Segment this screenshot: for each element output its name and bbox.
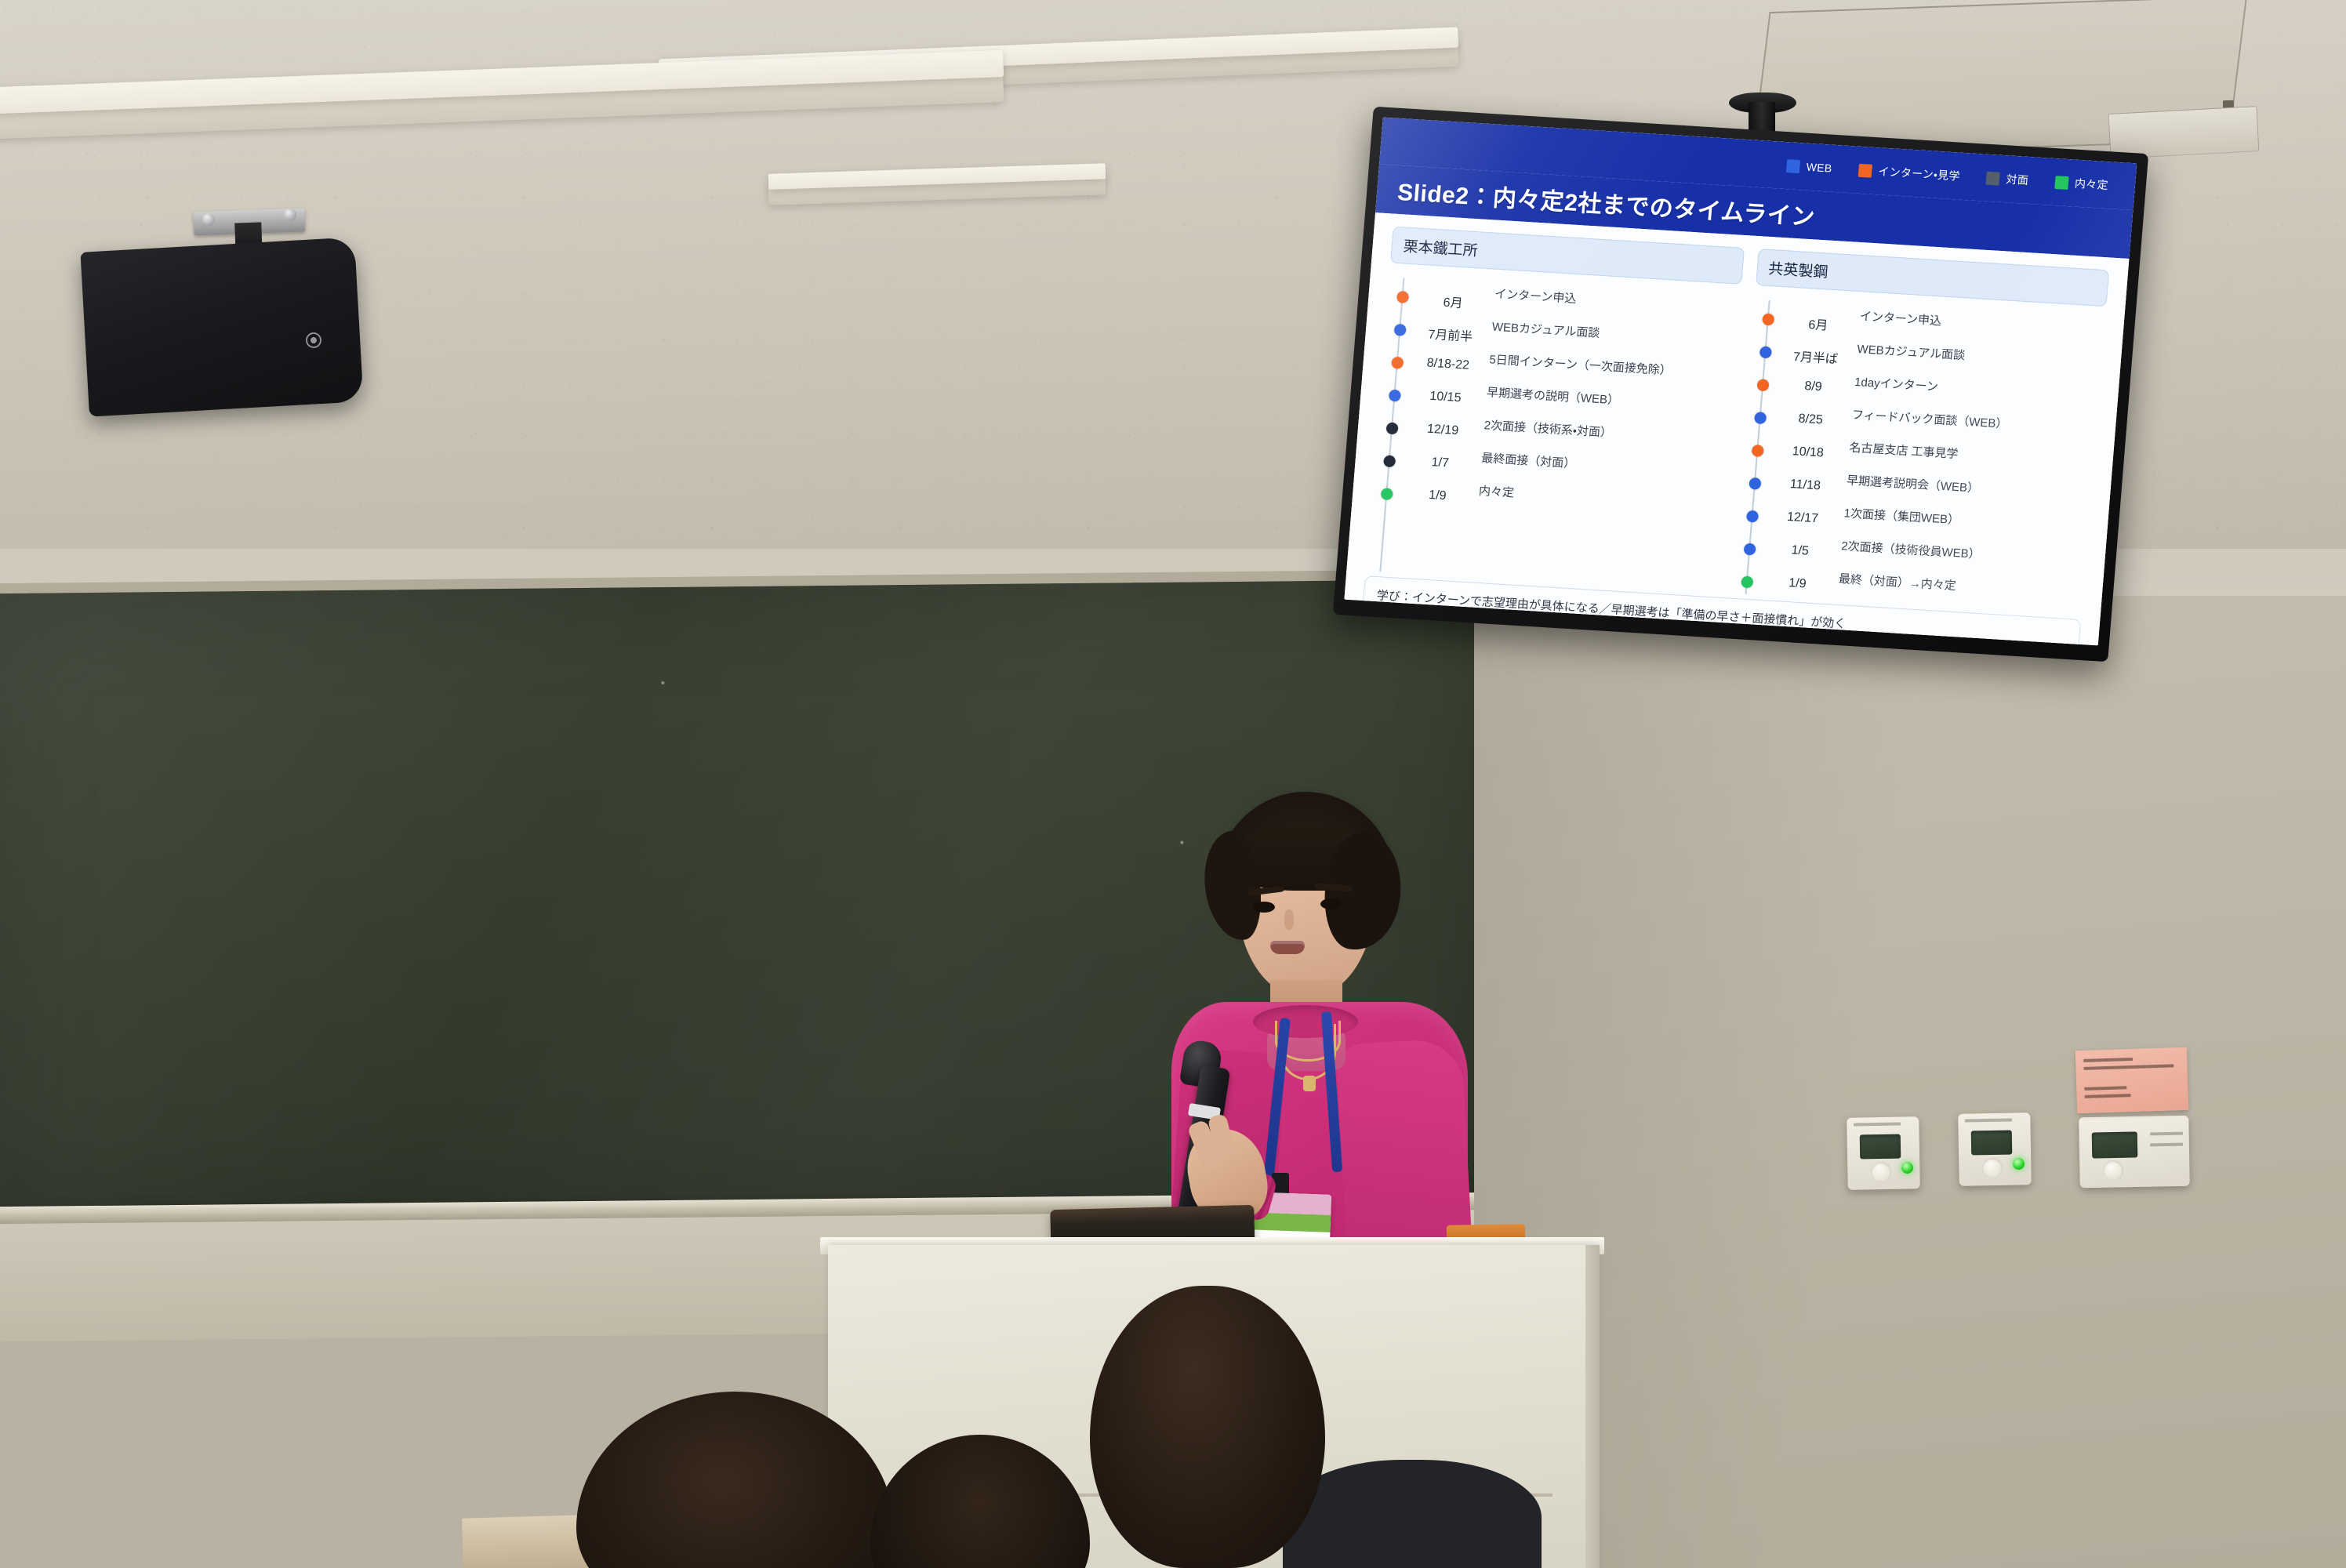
timeline-event-date: 8/25 [1770, 402, 1853, 429]
timeline-event-date: 6月 [1777, 304, 1861, 336]
timeline-dot-offer-icon [1741, 575, 1753, 588]
notice-line [2083, 1058, 2134, 1062]
notice-line [2083, 1064, 2173, 1070]
timeline-event-label: インターン申込 [1494, 287, 1577, 307]
timeline-dot-web-icon [1759, 346, 1771, 358]
presenter-eye [1253, 902, 1275, 913]
audience-shoulders [1283, 1460, 1542, 1568]
ac-controller-2-led-icon [2013, 1158, 2025, 1170]
slide-body: 栗本鐵工所 6月インターン申込7月前半WEBカジュアル面談8/18-225日間イ… [1346, 212, 2130, 620]
notice-line [2084, 1086, 2126, 1091]
presenter-pendant [1303, 1076, 1316, 1091]
timeline-kyoei: 6月インターン申込7月半ばWEBカジュアル面談8/91dayインターン8/25フ… [1730, 290, 2106, 619]
timeline-dot-inperson-icon [1383, 455, 1396, 467]
legend-label: WEB [1806, 161, 1832, 175]
timeline-event-date: 6月 [1411, 281, 1495, 313]
legend-item-offer: 内々定 [2054, 174, 2108, 193]
right-wall-shading [1474, 596, 2346, 1568]
timeline-event-date: 10/18 [1767, 435, 1850, 462]
timeline-dot-web-icon [1749, 477, 1761, 490]
timeline-event-date: 12/17 [1761, 501, 1844, 528]
timeline-dot-inperson-icon [1385, 423, 1398, 435]
timeline-dot-intern-icon [1391, 357, 1404, 369]
timeline-column-kurimoto: 栗本鐵工所 6月インターン申込7月前半WEBカジュアル面談8/18-225日間イ… [1365, 227, 1745, 597]
presenter-eye [1320, 898, 1342, 909]
timeline-dot-intern-icon [1762, 314, 1774, 326]
presenter-nose [1284, 909, 1294, 930]
timeline-dot-web-icon [1754, 412, 1767, 424]
timeline-event-label: インターン申込 [1859, 309, 1942, 329]
laser-pointer-dot-icon [1720, 631, 1727, 637]
timeline-dot-web-icon [1394, 324, 1407, 336]
timeline-event-date: 7月半ば [1774, 337, 1858, 368]
audience-head [1090, 1286, 1325, 1568]
timeline-event-label: 内々定 [1478, 484, 1515, 501]
tv-screen[interactable]: WEB インターン・見学 対面 内々定 [1344, 118, 2137, 646]
timeline-event-date: 1/9 [1396, 479, 1480, 506]
ceiling-speaker [80, 237, 363, 416]
wall-notice-sign [2075, 1047, 2188, 1113]
legend-item-inperson: 対面 [1986, 170, 2029, 188]
legend-label: インターン・見学 [1878, 163, 1961, 183]
timeline-event-date: 10/15 [1404, 380, 1487, 407]
legend-swatch-icon [1858, 163, 1872, 177]
podium-right-edge [1585, 1245, 1600, 1568]
ac-controller-1-led-icon [1901, 1162, 1913, 1174]
legend-swatch-icon [2054, 176, 2068, 190]
chalk-speck [661, 681, 664, 684]
ac-controller-3-label [2150, 1143, 2183, 1147]
presenter [1160, 792, 1474, 1278]
ac-controller-1-dial[interactable] [1871, 1162, 1891, 1182]
timeline-dot-intern-icon [1396, 291, 1409, 303]
timeline-dot-intern-icon [1751, 445, 1763, 457]
timeline-dot-web-icon [1743, 543, 1756, 556]
classroom-scene: WEB インターン・見学 対面 内々定 [0, 0, 2346, 1568]
timeline-event-date: 12/19 [1401, 413, 1484, 440]
presentation-slide: WEB インターン・見学 対面 内々定 [1344, 118, 2137, 646]
timeline-dot-web-icon [1389, 390, 1401, 402]
timeline-column-kyoei: 共英製鋼 6月インターン申込7月半ばWEBカジュアル面談8/91dayインターン… [1730, 249, 2110, 619]
ac-controller-3-display [2092, 1131, 2138, 1158]
timeline-event-date: 1/7 [1399, 446, 1482, 473]
ceiling-vent [2108, 106, 2260, 159]
notice-line [2085, 1094, 2131, 1098]
timeline-event-date: 1/5 [1759, 534, 1842, 561]
timeline-event-date: 8/18-22 [1407, 347, 1490, 374]
legend-swatch-icon [1786, 159, 1800, 173]
ac-controller-2-dial[interactable] [1982, 1158, 2003, 1178]
timeline-event-date: 8/9 [1772, 370, 1855, 397]
timeline-dot-web-icon [1745, 510, 1758, 523]
timeline-event-date: 7月前半 [1409, 314, 1493, 346]
legend-label: 対面 [2006, 171, 2029, 188]
legend-label: 内々定 [2074, 176, 2108, 194]
timeline-dot-intern-icon [1756, 379, 1769, 391]
ac-controller-3-label [2150, 1132, 2183, 1136]
timeline-dot-offer-icon [1381, 488, 1393, 500]
timeline-kurimoto: 6月インターン申込7月前半WEBカジュアル面談8/18-225日間インターン（一… [1365, 267, 1741, 597]
legend-item-intern: インターン・見学 [1858, 162, 1961, 184]
ac-controller-2-display [1971, 1131, 2013, 1156]
legend-item-web: WEB [1786, 159, 1832, 175]
legend-swatch-icon [1986, 171, 2000, 185]
tv-bezel: WEB インターン・見学 対面 内々定 [1333, 107, 2148, 662]
wall-mounted-tv[interactable]: WEB インターン・見学 対面 内々定 [1333, 107, 2148, 662]
timeline-event-date: 11/18 [1764, 468, 1847, 495]
ac-controller-3-dial[interactable] [2103, 1160, 2123, 1181]
ac-controller-1-display [1860, 1134, 1901, 1160]
timeline-event-date: 1/9 [1756, 567, 1839, 593]
presenter-mouth [1270, 941, 1305, 954]
